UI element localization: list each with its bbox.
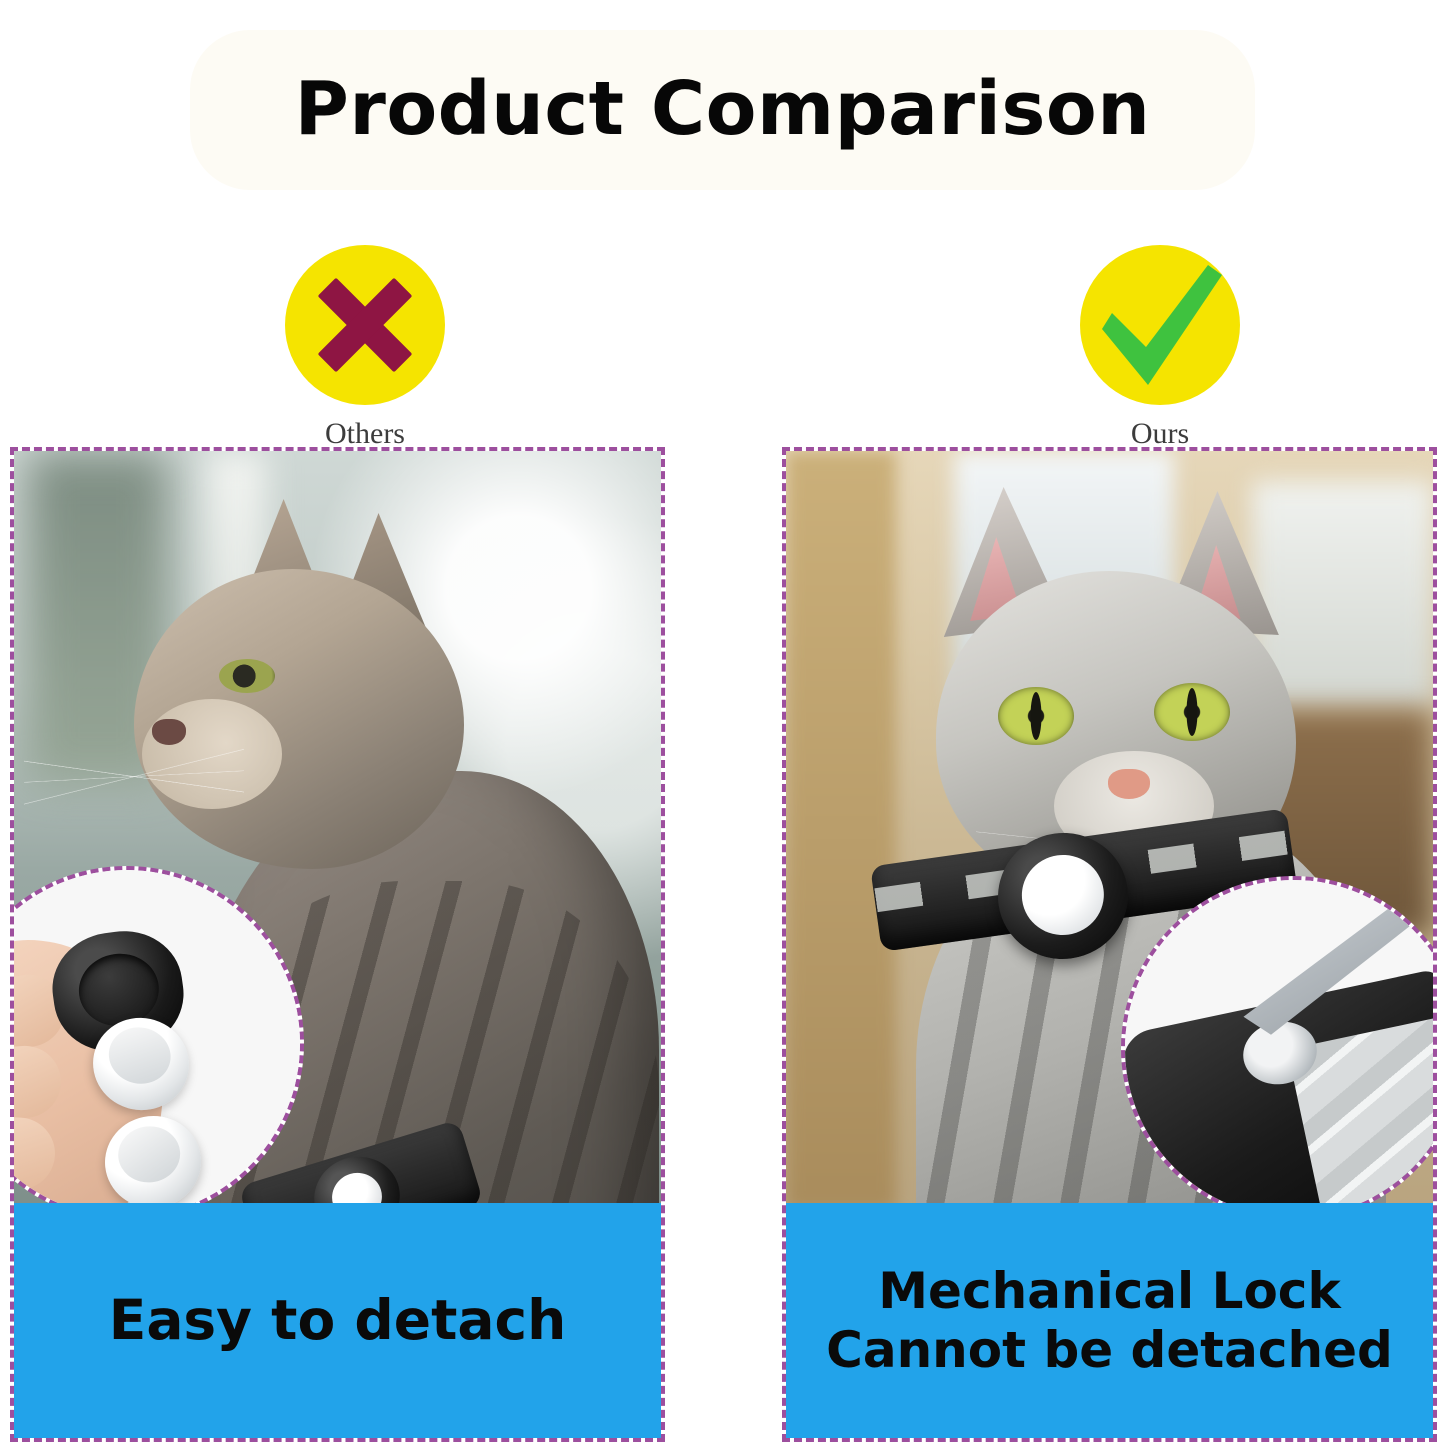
x-mark-icon (285, 245, 445, 405)
comparison-panel-others: Easy to detach (10, 447, 665, 1442)
cat-eye-left (998, 687, 1074, 745)
inset-others (10, 866, 304, 1221)
caption-text-others: Easy to detach (109, 1288, 566, 1353)
cat-eye-right (1154, 683, 1230, 741)
caption-ours: Mechanical Lock Cannot be detached (786, 1203, 1433, 1438)
check-mark-icon (1080, 245, 1240, 405)
cat-eye (219, 659, 275, 693)
title-band: Product Comparison (0, 0, 1445, 200)
comparison-panel-ours: Mechanical Lock Cannot be detached (782, 447, 1437, 1442)
badge-ours: Ours (1010, 245, 1310, 451)
page-title: Product Comparison (295, 66, 1151, 152)
caption-line-1: Mechanical Lock (826, 1262, 1393, 1321)
badge-label-ours: Ours (1010, 417, 1310, 451)
finger (10, 1113, 57, 1192)
badge-others: Others (215, 245, 515, 451)
badge-label-others: Others (215, 417, 515, 451)
inset-ours (1121, 876, 1437, 1221)
caption-text-ours: Mechanical Lock Cannot be detached (826, 1262, 1393, 1380)
cat-whiskers (24, 701, 244, 851)
caption-others: Easy to detach (14, 1203, 661, 1438)
finger (10, 1043, 63, 1124)
caption-line-2: Cannot be detached (826, 1321, 1393, 1380)
background-wall (786, 451, 896, 1211)
